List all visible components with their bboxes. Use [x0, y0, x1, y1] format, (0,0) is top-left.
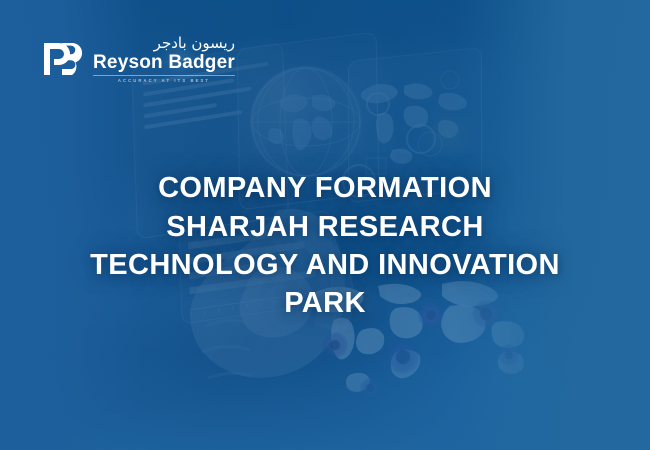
- logo-wordmark: ريسون بادجر Reyson Badger accuracy at it…: [93, 36, 235, 83]
- headline-line-1: COMPANY FORMATION: [45, 169, 605, 207]
- logo-tagline: accuracy at its best: [93, 78, 235, 83]
- brand-logo[interactable]: ريسون بادجر Reyson Badger accuracy at it…: [42, 36, 235, 83]
- rb-monogram-icon: [42, 37, 84, 81]
- page-title: COMPANY FORMATION SHARJAH RESEARCH TECHN…: [45, 169, 605, 322]
- headline-line-2: SHARJAH RESEARCH: [45, 208, 605, 246]
- promotional-banner: ريسون بادجر Reyson Badger accuracy at it…: [0, 0, 650, 450]
- logo-divider: [93, 75, 235, 76]
- logo-company-name: Reyson Badger: [93, 53, 235, 73]
- headline-line-4: PARK: [45, 284, 605, 322]
- logo-arabic-name: ريسون بادجر: [93, 36, 235, 51]
- headline-line-3: TECHNOLOGY AND INNOVATION: [45, 246, 605, 284]
